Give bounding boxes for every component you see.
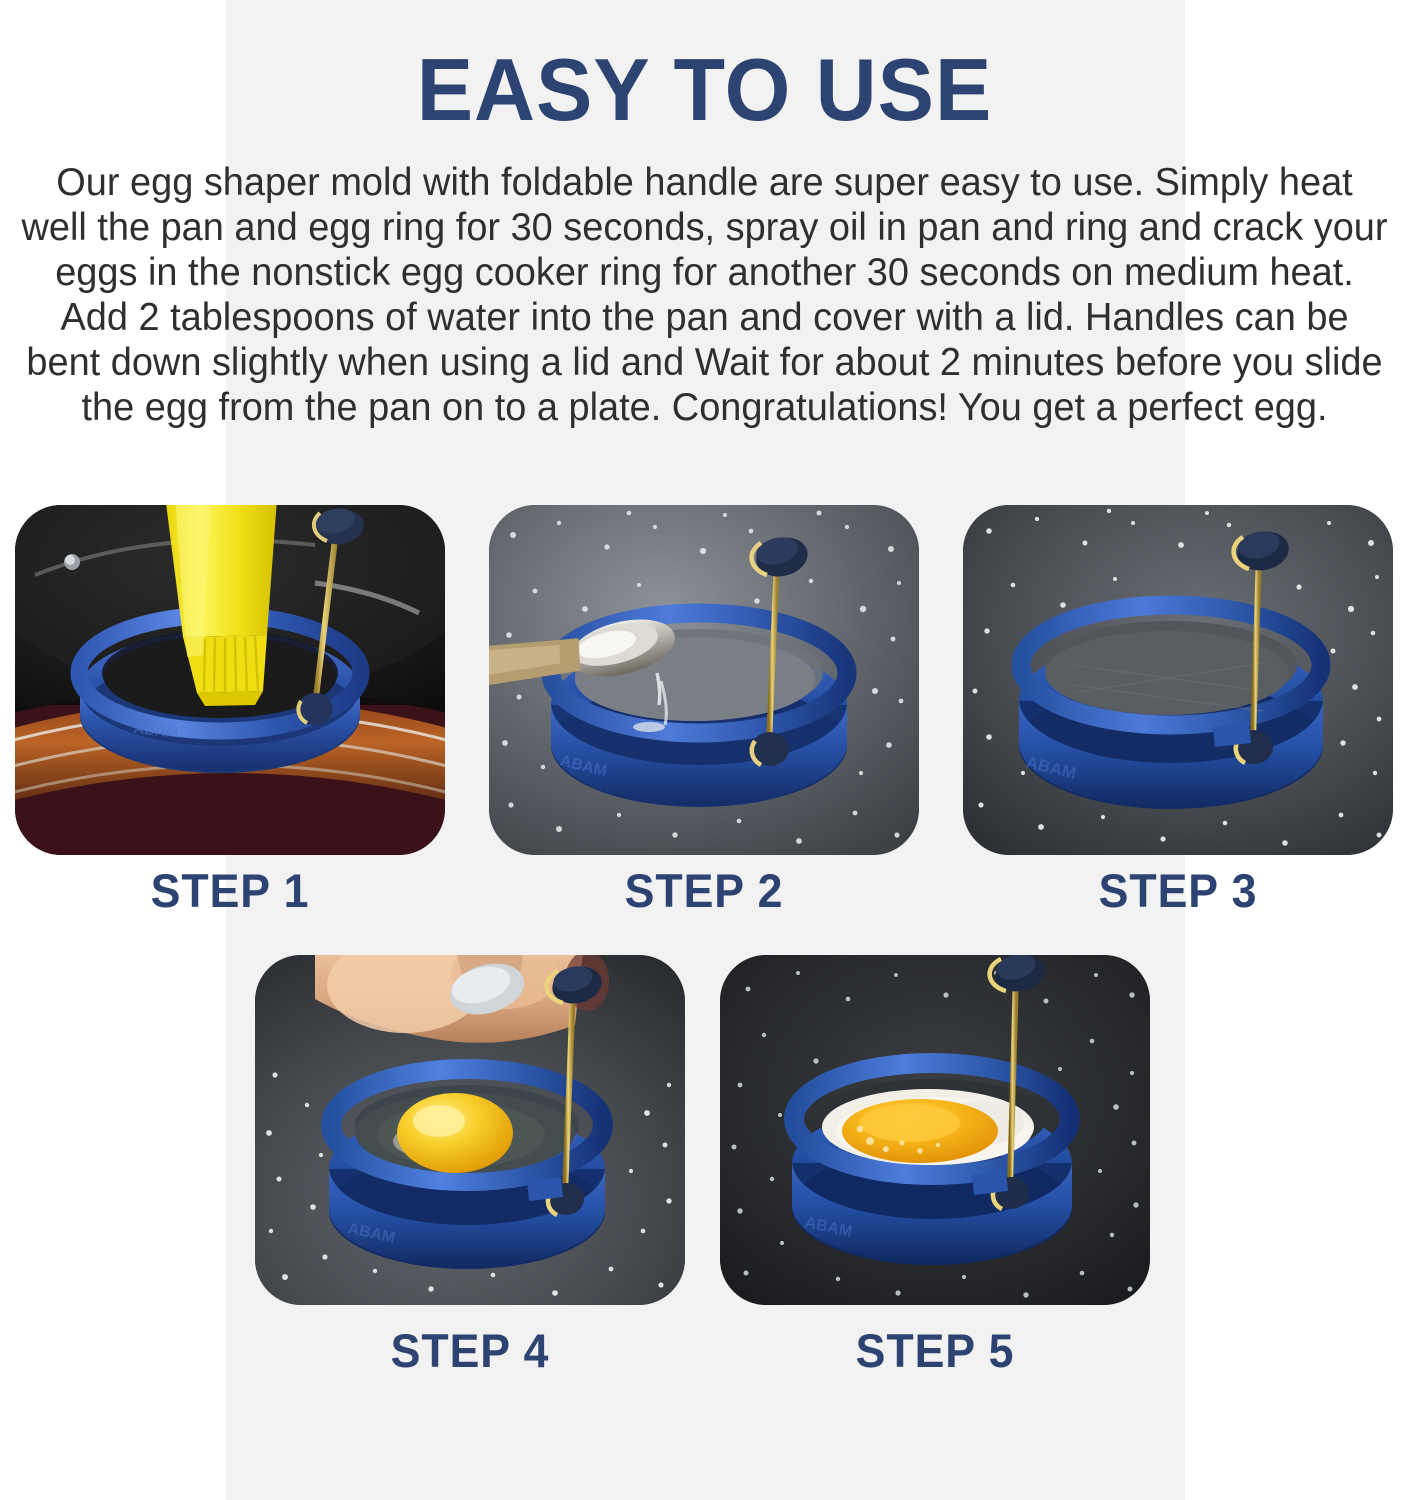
step-5-label: STEP 5	[731, 1323, 1140, 1378]
step-card-5[interactable]: ABAM STEP 5	[720, 955, 1150, 1305]
step-4-label: STEP 4	[266, 1323, 675, 1378]
infographic-page: EASY TO USE Our egg shaper mold with fol…	[0, 0, 1409, 1500]
step-card-4[interactable]: ABAM STEP 4	[255, 955, 685, 1305]
step-2-label: STEP 2	[500, 863, 909, 918]
page-title: EASY TO USE	[28, 46, 1381, 134]
step-3-label: STEP 3	[974, 863, 1383, 918]
step-1-label: STEP 1	[26, 863, 435, 918]
intro-paragraph: Our egg shaper mold with foldable handle…	[20, 160, 1388, 430]
step-4-image: ABAM	[255, 955, 685, 1305]
step-5-image: ABAM	[720, 955, 1150, 1305]
step-1-image: ABAM	[15, 505, 445, 855]
step-card-3[interactable]: ABAM STEP 3	[963, 505, 1393, 855]
step-3-image: ABAM	[963, 505, 1393, 855]
step-card-2[interactable]: ABAM	[489, 505, 919, 855]
step-2-image: ABAM	[489, 505, 919, 855]
step-card-1[interactable]: ABAM	[15, 505, 445, 855]
